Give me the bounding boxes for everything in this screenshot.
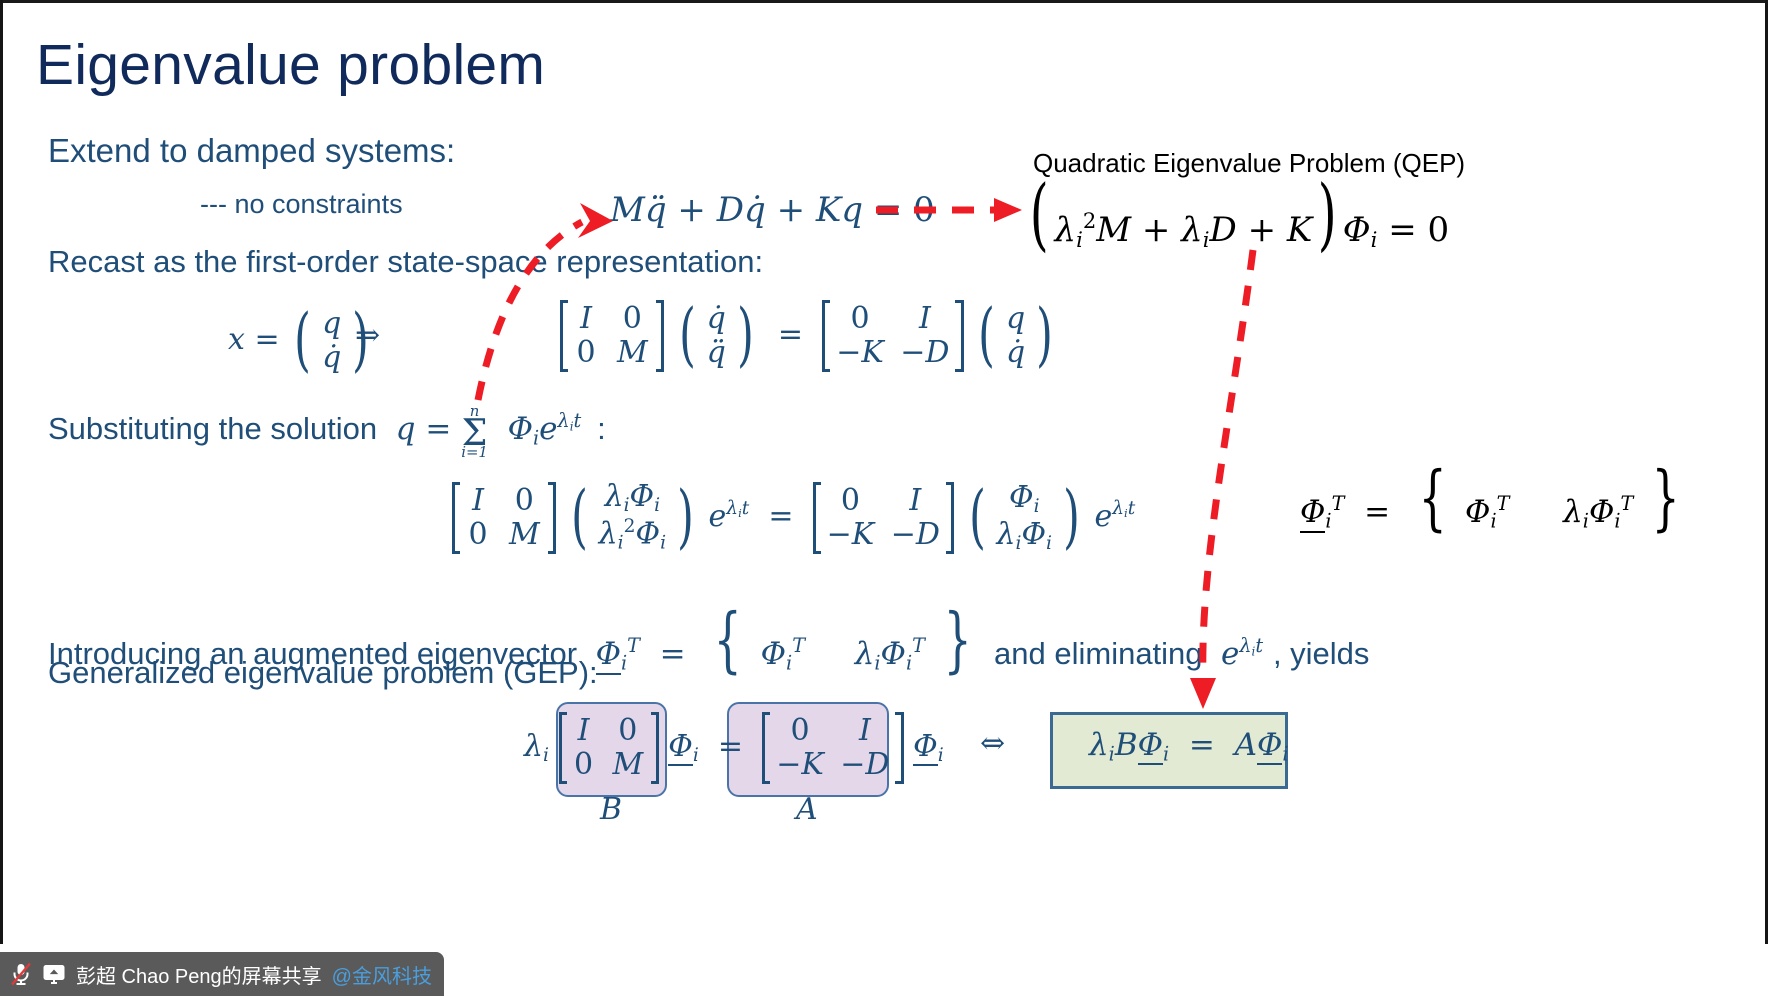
- window-top-edge: [0, 0, 1768, 3]
- line-introducing-suffix: , yields: [1273, 636, 1369, 671]
- microphone-muted-icon[interactable]: [10, 962, 32, 986]
- implies-arrow-1: ⇒: [355, 318, 380, 353]
- line-recast: Recast as the first-order state-space re…: [48, 244, 763, 280]
- line-substituting-suffix: :: [597, 411, 606, 446]
- arrowhead-to-eom: [578, 203, 613, 238]
- share-org-handle: @金风科技: [332, 960, 432, 989]
- line-substituting-prefix: Substituting the solution: [48, 411, 377, 446]
- slide-canvas: Eigenvalue problem Extend to damped syst…: [0, 0, 1768, 996]
- line-gep-label: Generalized eigenvalue problem (GEP):: [48, 655, 598, 691]
- equation-state-vector: x = ( qq̇ ): [228, 305, 374, 377]
- equation-compact-gep: λiBΦi = AΦi: [1089, 727, 1289, 765]
- arrowhead-qep-to-compact-gep: [1190, 678, 1216, 709]
- screen-share-bar[interactable]: 彭超 Chao Peng的屏幕共享 @金风科技: [0, 952, 444, 996]
- matrix-label-B: B: [600, 792, 622, 827]
- qep-caption: Quadratic Eigenvalue Problem (QEP): [1033, 148, 1465, 179]
- share-owner-label: 彭超 Chao Peng的屏幕共享: [76, 960, 322, 989]
- matrix-label-A: A: [796, 792, 818, 827]
- inline-augmented-eigenvector: ΦiT = { ΦiT λiΦiT }: [586, 636, 990, 672]
- equation-state-space: I0 0M ( q̇q̈̈ ) = 0I −K−D ( qq̇ ): [560, 300, 1058, 372]
- line-introducing-mid: and eliminating: [994, 636, 1203, 671]
- slide-title: Eigenvalue problem: [36, 32, 545, 98]
- equation-substituted: I0 0M ( λiΦi λi2Φi ) eλit = 0I −K−D (: [452, 478, 1135, 557]
- equation-gep: λi I0 0M Φi = 0I −K−D Φi: [524, 712, 944, 784]
- arrowhead-eom-to-qep: [994, 198, 1022, 222]
- equation-augmented-eigenvector: ΦiT = { ΦiT λiΦiT }: [1300, 472, 1689, 532]
- equation-eom: Mq̈̈ + Dq̇ + Kq = 0: [610, 190, 935, 230]
- window-left-edge: [0, 0, 3, 944]
- equation-modal-sum: q = n Σ i=1 Φieλit: [386, 411, 591, 447]
- inline-exp-term: eλit: [1211, 636, 1273, 672]
- line-extend-damped: Extend to damped systems:: [48, 132, 455, 170]
- screen-share-icon[interactable]: [42, 963, 66, 985]
- line-no-constraints: --- no constraints: [200, 189, 403, 220]
- line-substituting: Substituting the solution q = n Σ i=1 Φi…: [48, 404, 606, 457]
- equivalence-symbol: ⇔: [980, 726, 1005, 761]
- equation-qep: (λi2M + λiD + K)Φi = 0: [1024, 187, 1449, 252]
